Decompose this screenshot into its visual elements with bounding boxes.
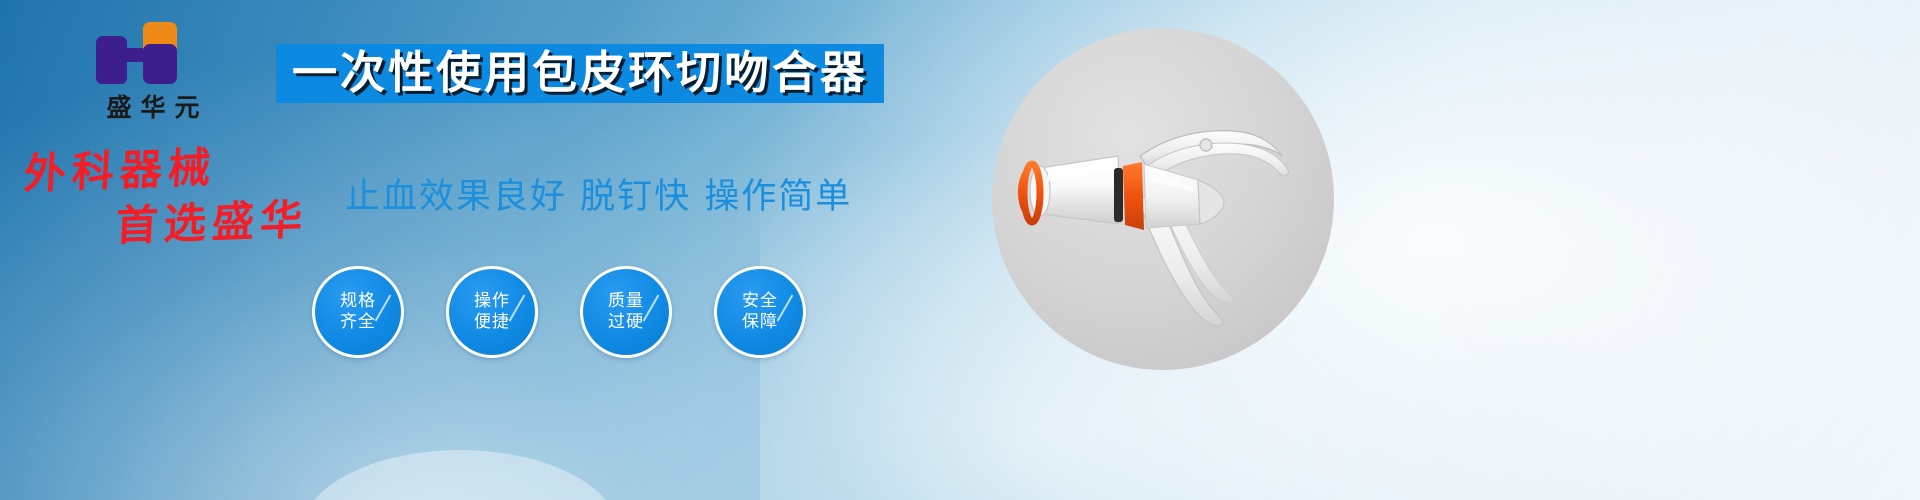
feature-badge[interactable]: 操作 便捷 xyxy=(446,266,538,358)
orange-collar xyxy=(1123,162,1144,230)
promo-banner: 盛华元 一次性使用包皮环切吻合器 外科器械 首选盛华 止血效果良好 脱钉快 操作… xyxy=(0,0,1920,500)
logo-block-purple-right xyxy=(143,44,177,84)
feature-badge[interactable]: 规格 齐全 xyxy=(312,266,404,358)
headline-text: 一次性使用包皮环切吻合器 xyxy=(292,49,868,96)
calligraphy-line-2: 首选盛华 xyxy=(115,199,310,248)
cone-nose xyxy=(1144,164,1200,228)
headline-banner: 一次性使用包皮环切吻合器 xyxy=(276,44,884,103)
feature-badge[interactable]: 安全 保障 xyxy=(714,266,806,358)
badge-line-2: 保障 xyxy=(742,312,778,333)
bottom-arc-decoration xyxy=(300,450,620,500)
upper-arm-pivot xyxy=(1200,139,1212,151)
badge-line-1: 规格 xyxy=(340,291,376,312)
background-sheen-right xyxy=(760,0,1920,500)
feature-badge-list: 规格 齐全 操作 便捷 质量 过硬 安全 保障 xyxy=(312,266,806,358)
badge-line-1: 安全 xyxy=(742,291,778,312)
logo-mark-icon xyxy=(96,22,182,84)
cone-tip xyxy=(1198,180,1224,224)
calligraphy-line-1: 外科器械 xyxy=(23,147,218,196)
product-photo xyxy=(992,28,1334,370)
badge-slash-decoration xyxy=(509,295,526,322)
badge-line-2: 齐全 xyxy=(340,312,376,333)
badge-line-2: 过硬 xyxy=(608,312,644,333)
badge-line-2: 便捷 xyxy=(474,312,510,333)
badge-line-1: 质量 xyxy=(608,291,644,312)
badge-line-1: 操作 xyxy=(474,291,510,312)
brand-logo: 盛华元 xyxy=(58,22,248,132)
gasket-band xyxy=(1114,168,1123,222)
subtitle-text: 止血效果良好 脱钉快 操作简单 xyxy=(345,168,852,219)
brand-name: 盛华元 xyxy=(58,88,248,124)
calligraphy-slogan: 外科器械 首选盛华 xyxy=(18,150,348,265)
badge-slash-decoration xyxy=(375,295,392,322)
badge-slash-decoration xyxy=(777,295,794,322)
feature-badge[interactable]: 质量 过硬 xyxy=(580,266,672,358)
circumcision-stapler-illustration xyxy=(992,28,1334,370)
badge-slash-decoration xyxy=(643,295,660,322)
